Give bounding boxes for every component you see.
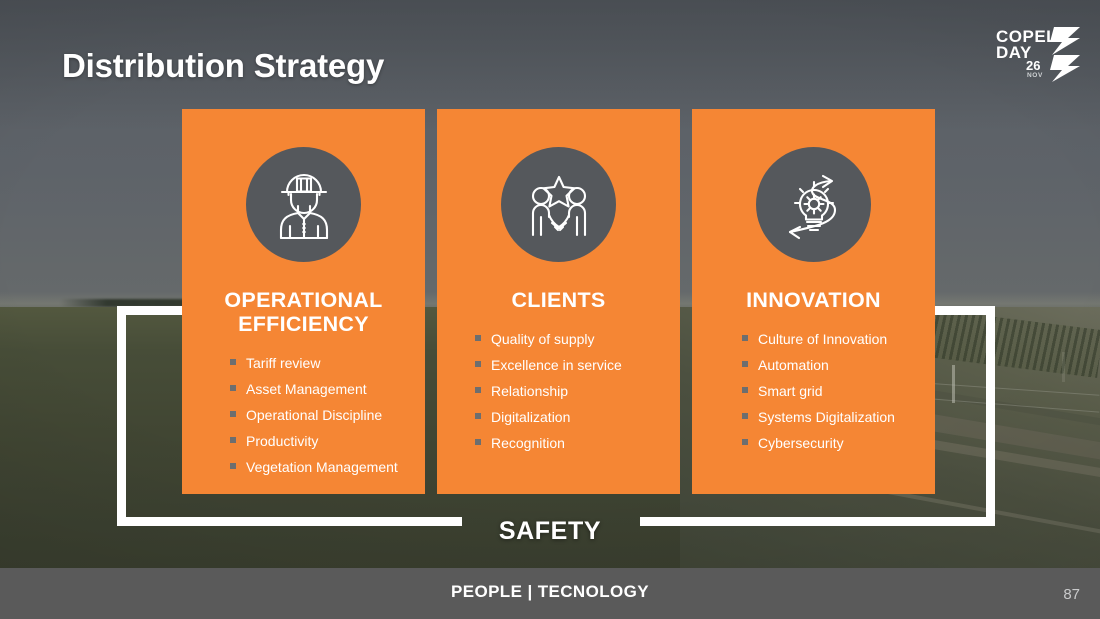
list-item: Recognition — [475, 436, 680, 450]
list-item: Excellence in service — [475, 358, 680, 372]
bracket-left-top — [117, 306, 187, 315]
list-item: Automation — [742, 358, 935, 372]
copel-day-logo: COPEL DAY 26 NOV — [996, 25, 1084, 83]
page-title: Distribution Strategy — [62, 47, 384, 85]
list-item: Cybersecurity — [742, 436, 935, 450]
logo-day-number: 26 — [1026, 59, 1040, 72]
lightbulb-gear-arrow-icon — [773, 164, 855, 246]
list-item: Quality of supply — [475, 332, 680, 346]
list-item: Relationship — [475, 384, 680, 398]
card-title-line1: CLIENTS — [511, 288, 605, 312]
card-innovation[interactable]: INNOVATION Culture of Innovation Automat… — [692, 109, 935, 494]
bracket-left-vertical — [117, 306, 126, 526]
icon-circle — [246, 147, 361, 262]
card-bullet-list: Culture of Innovation Automation Smart g… — [742, 332, 935, 462]
card-title: OPERATIONAL EFFICIENCY — [224, 288, 382, 336]
list-item: Productivity — [230, 434, 425, 448]
footer-tagline: PEOPLE | TECNOLOGY — [0, 582, 1100, 602]
card-title-line1: INNOVATION — [746, 288, 881, 312]
strategy-cards: OPERATIONAL EFFICIENCY Tariff review Ass… — [182, 109, 942, 494]
footer-bar: PEOPLE | TECNOLOGY 87 — [0, 568, 1100, 619]
hard-hat-worker-icon — [265, 166, 343, 244]
handshake-star-icon — [519, 165, 599, 245]
card-title: CLIENTS — [511, 288, 605, 312]
list-item: Culture of Innovation — [742, 332, 935, 346]
safety-label: SAFETY — [0, 517, 1100, 546]
card-title-line1: OPERATIONAL — [224, 288, 382, 312]
list-item: Systems Digitalization — [742, 410, 935, 424]
card-clients[interactable]: CLIENTS Quality of supply Excellence in … — [437, 109, 680, 494]
bracket-right-vertical — [986, 306, 995, 526]
list-item: Asset Management — [230, 382, 425, 396]
slide-canvas: Distribution Strategy COPEL DAY 26 NOV S… — [0, 0, 1100, 619]
list-item: Smart grid — [742, 384, 935, 398]
list-item: Digitalization — [475, 410, 680, 424]
icon-circle — [756, 147, 871, 262]
card-bullet-list: Quality of supply Excellence in service … — [475, 332, 680, 462]
card-title: INNOVATION — [746, 288, 881, 312]
list-item: Vegetation Management — [230, 460, 425, 474]
page-number: 87 — [1063, 586, 1080, 603]
icon-circle — [501, 147, 616, 262]
lightning-bolt-icon — [1040, 25, 1084, 83]
card-bullet-list: Tariff review Asset Management Operation… — [230, 356, 425, 486]
list-item: Operational Discipline — [230, 408, 425, 422]
list-item: Tariff review — [230, 356, 425, 370]
card-operational-efficiency[interactable]: OPERATIONAL EFFICIENCY Tariff review Ass… — [182, 109, 425, 494]
card-title-line2: EFFICIENCY — [238, 312, 369, 336]
